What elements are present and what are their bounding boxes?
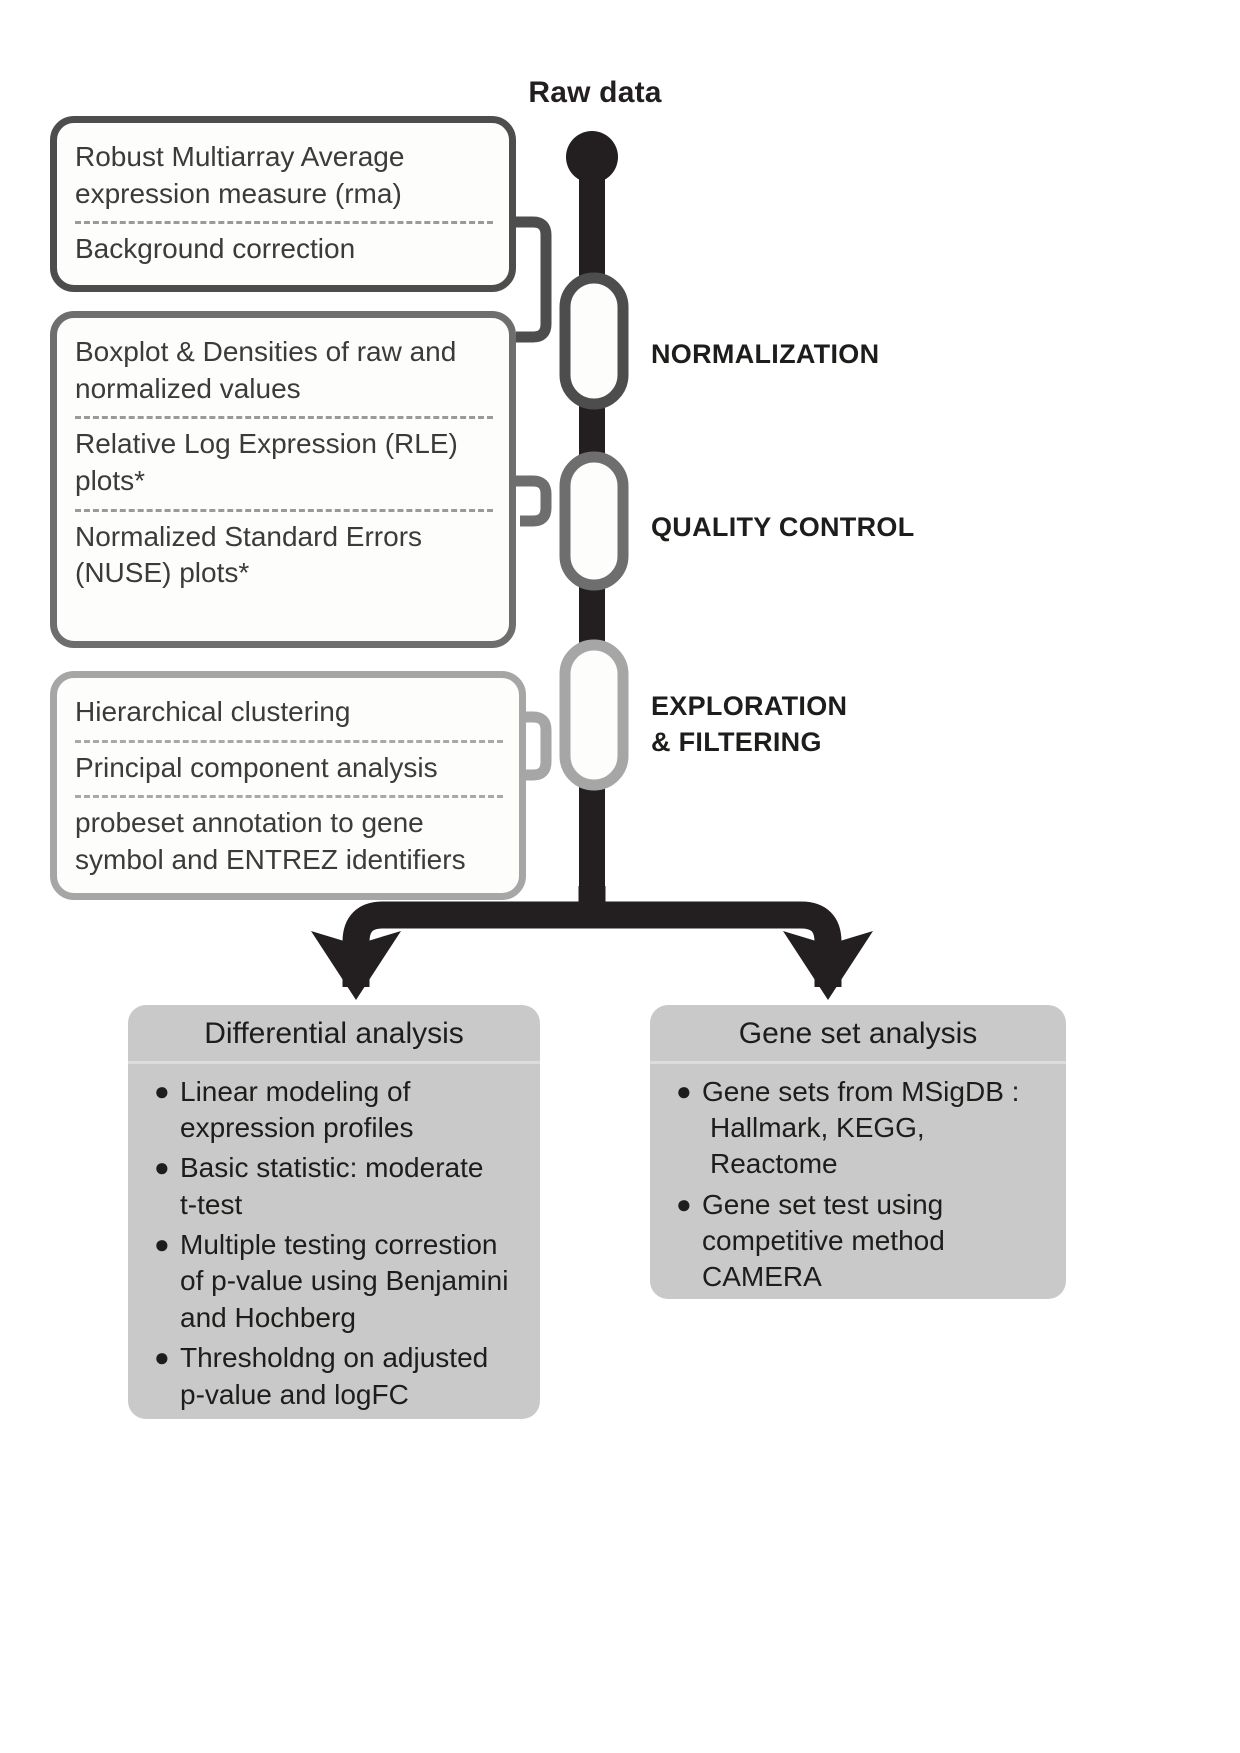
normalization-node [516, 222, 623, 404]
list-item: ●Gene set test using competitive method … [672, 1187, 1052, 1296]
qc-item-nuse-plots: Normalized Standard Errors (NUSE) plots* [75, 509, 493, 601]
stage-label-exploration-filtering: EXPLORATION & FILTERING [651, 689, 847, 761]
stage-box-exploration-inner: Hierarchical clustering Principal compon… [57, 678, 519, 899]
list-item-text: Linear modeling of expression profiles [180, 1076, 413, 1143]
list-item: ●Linear modeling of expression profiles [150, 1074, 526, 1147]
stage-box-normalization[interactable]: Robust Multiarray Average expression mea… [50, 116, 516, 292]
list-item-text: Thresholdng on adjusted p-value and logF… [180, 1342, 488, 1409]
bullet-icon: ● [154, 1074, 170, 1108]
qc-item-boxplot-densities: Boxplot & Densities of raw and normalize… [75, 327, 493, 416]
start-node-icon [566, 131, 618, 183]
exploration-node [520, 645, 623, 785]
panel-gene-set-analysis-title: Gene set analysis [650, 1005, 1066, 1064]
list-item: ●Thresholdng on adjusted p-value and log… [150, 1340, 526, 1413]
page-title: Raw data [470, 76, 720, 110]
panel-differential-analysis-title: Differential analysis [128, 1005, 540, 1064]
exploration-item-probeset-annotation: probeset annotation to gene symbol and E… [75, 795, 503, 887]
panel-differential-analysis[interactable]: Differential analysis ●Linear modeling o… [128, 1005, 540, 1419]
exploration-item-hierarchical-clustering: Hierarchical clustering [75, 687, 503, 740]
spine-fork [356, 886, 828, 987]
down-arrow-left-icon [311, 918, 401, 1000]
normalization-item-background-correction: Background correction [75, 221, 493, 277]
down-arrow-right-icon [783, 918, 873, 1000]
stage-box-quality-control[interactable]: Boxplot & Densities of raw and normalize… [50, 311, 516, 648]
list-item-text: Gene set test using competitive method C… [702, 1189, 945, 1293]
stage-box-normalization-inner: Robust Multiarray Average expression mea… [57, 123, 509, 288]
bullet-icon: ● [154, 1150, 170, 1184]
exploration-item-pca: Principal component analysis [75, 740, 503, 796]
list-item: ●Basic statistic: moderate t-test [150, 1150, 526, 1223]
spine-trunk [566, 131, 618, 910]
list-item-text: Basic statistic: moderate t-test [180, 1152, 483, 1219]
stage-label-normalization: NORMALIZATION [651, 337, 879, 373]
list-item-text: Gene sets from MSigDB : [702, 1076, 1019, 1107]
list-item-text-cont: Hallmark, KEGG, Reactome [702, 1110, 1052, 1183]
gene-set-analysis-list: ●Gene sets from MSigDB :Hallmark, KEGG, … [650, 1064, 1066, 1300]
list-item-text: Multiple testing correstion of p-value u… [180, 1229, 508, 1333]
bullet-icon: ● [154, 1340, 170, 1374]
stage-label-quality-control: QUALITY CONTROL [651, 510, 915, 546]
normalization-item-rma: Robust Multiarray Average expression mea… [75, 132, 493, 221]
flowchart-canvas: Raw data Robust Multiarray Average expre… [0, 0, 1240, 1753]
stage-box-quality-control-inner: Boxplot & Densities of raw and normalize… [57, 318, 509, 612]
panel-gene-set-analysis[interactable]: Gene set analysis ●Gene sets from MSigDB… [650, 1005, 1066, 1299]
bullet-icon: ● [676, 1187, 692, 1221]
bullet-icon: ● [676, 1074, 692, 1108]
list-item: ●Gene sets from MSigDB :Hallmark, KEGG, … [672, 1074, 1052, 1183]
bullet-icon: ● [154, 1227, 170, 1261]
differential-analysis-list: ●Linear modeling of expression profiles … [128, 1064, 540, 1420]
qc-item-rle-plots: Relative Log Expression (RLE) plots* [75, 416, 493, 508]
list-item: ●Multiple testing correstion of p-value … [150, 1227, 526, 1336]
stage-box-exploration-filtering[interactable]: Hierarchical clustering Principal compon… [50, 671, 526, 900]
quality-control-node [516, 457, 623, 585]
